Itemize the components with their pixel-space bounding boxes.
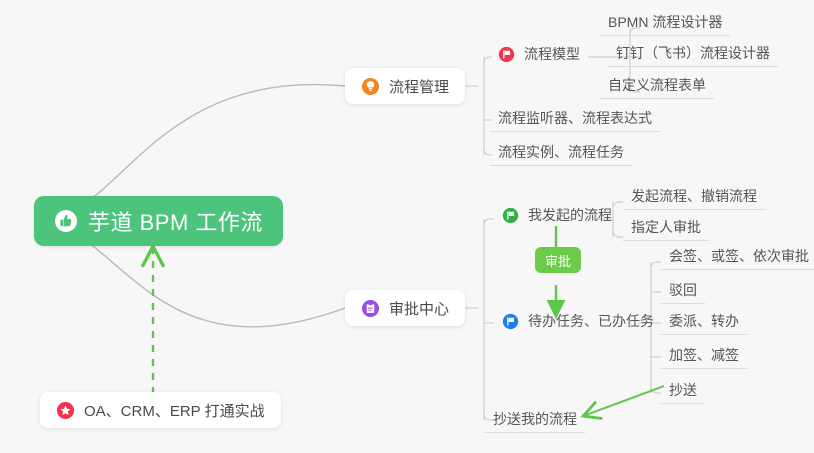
node-label: 发起流程、撤销流程 — [631, 186, 757, 206]
node-dingtalk-designer[interactable]: 钉钉（飞书）流程设计器 — [608, 43, 778, 67]
lightbulb-icon — [361, 77, 380, 96]
node-custom-form[interactable]: 自定义流程表单 — [600, 75, 714, 99]
node-start-cancel-process[interactable]: 发起流程、撤销流程 — [623, 186, 765, 210]
node-label: 我发起的流程 — [528, 205, 612, 225]
node-process-model[interactable]: 流程模型 — [490, 44, 588, 68]
approval-flow-tag-label: 审批 — [545, 251, 571, 270]
node-countersign[interactable]: 会签、或签、依次审批 — [661, 246, 814, 270]
flag-icon — [502, 313, 519, 330]
node-label: 会签、或签、依次审批 — [669, 246, 809, 266]
node-process-listener[interactable]: 流程监听器、流程表达式 — [490, 108, 660, 132]
branch-approval-center[interactable]: 审批中心 — [345, 290, 465, 326]
flag-icon — [502, 207, 519, 224]
integration-node[interactable]: OA、CRM、ERP 打通实战 — [40, 392, 281, 428]
node-label: 待办任务、已办任务 — [528, 311, 654, 331]
root-node-label: 芋道 BPM 工作流 — [88, 205, 263, 237]
branch-label: 审批中心 — [389, 298, 449, 319]
node-label: 抄送我的流程 — [493, 409, 577, 429]
node-my-initiated[interactable]: 我发起的流程 — [494, 205, 620, 229]
node-process-instance[interactable]: 流程实例、流程任务 — [490, 142, 632, 166]
node-label: 流程监听器、流程表达式 — [498, 108, 652, 128]
node-cc-to-me[interactable]: 抄送我的流程 — [485, 409, 585, 433]
node-label: 自定义流程表单 — [608, 75, 706, 95]
node-reject[interactable]: 驳回 — [661, 280, 705, 304]
node-label: 流程实例、流程任务 — [498, 142, 624, 162]
node-label: 抄送 — [669, 380, 697, 400]
star-icon — [56, 401, 75, 420]
root-node[interactable]: 芋道 BPM 工作流 — [34, 196, 283, 246]
node-delegate-transfer[interactable]: 委派、转办 — [661, 311, 747, 335]
node-bpmn-designer[interactable]: BPMN 流程设计器 — [600, 12, 730, 36]
node-label: BPMN 流程设计器 — [608, 12, 722, 32]
approval-flow-tag: 审批 — [535, 247, 581, 273]
node-label: 加签、减签 — [669, 345, 739, 365]
mindmap-canvas: 芋道 BPM 工作流 流程管理 流程模型 BPMN 流程设计器 钉钉（飞书 — [0, 0, 814, 453]
branch-process-management[interactable]: 流程管理 — [345, 68, 465, 104]
node-designated-approver[interactable]: 指定人审批 — [623, 217, 709, 241]
node-label: 驳回 — [669, 280, 697, 300]
node-add-remove-sign[interactable]: 加签、减签 — [661, 345, 747, 369]
node-label: 指定人审批 — [631, 217, 701, 237]
thumbs-up-icon — [54, 209, 78, 233]
node-cc[interactable]: 抄送 — [661, 380, 705, 404]
integration-node-label: OA、CRM、ERP 打通实战 — [84, 400, 265, 421]
clipboard-icon — [361, 299, 380, 318]
node-label: 流程模型 — [524, 44, 580, 64]
node-label: 钉钉（飞书）流程设计器 — [616, 43, 770, 63]
node-label: 委派、转办 — [669, 311, 739, 331]
branch-label: 流程管理 — [389, 76, 449, 97]
node-todo-done-tasks[interactable]: 待办任务、已办任务 — [494, 311, 662, 335]
flag-icon — [498, 46, 515, 63]
